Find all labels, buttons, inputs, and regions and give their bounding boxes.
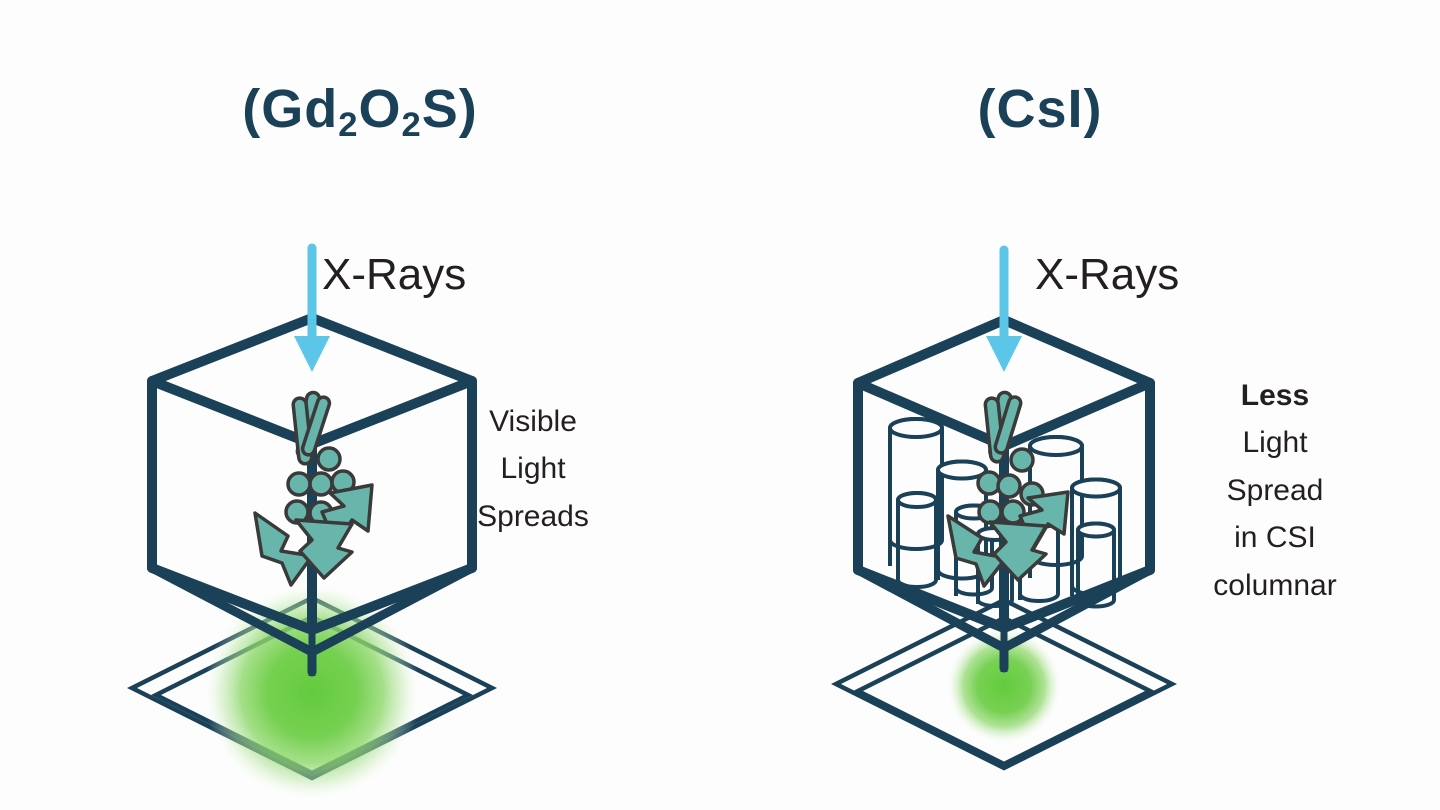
xray-arrow-right [986, 250, 1022, 372]
column [898, 493, 936, 588]
panel-gd2o2s: (Gd2O2S) X-Rays Visible Light Spreads [0, 0, 720, 810]
xray-arrow-left [294, 248, 330, 372]
diagram-canvas: (Gd2O2S) X-Rays Visible Light Spreads [0, 0, 1440, 810]
illustration-gd2o2s [0, 0, 720, 810]
panel-csi: (CsI) X-Rays Less Light Spread in CSI co… [720, 0, 1440, 810]
illustration-csi [720, 0, 1440, 810]
